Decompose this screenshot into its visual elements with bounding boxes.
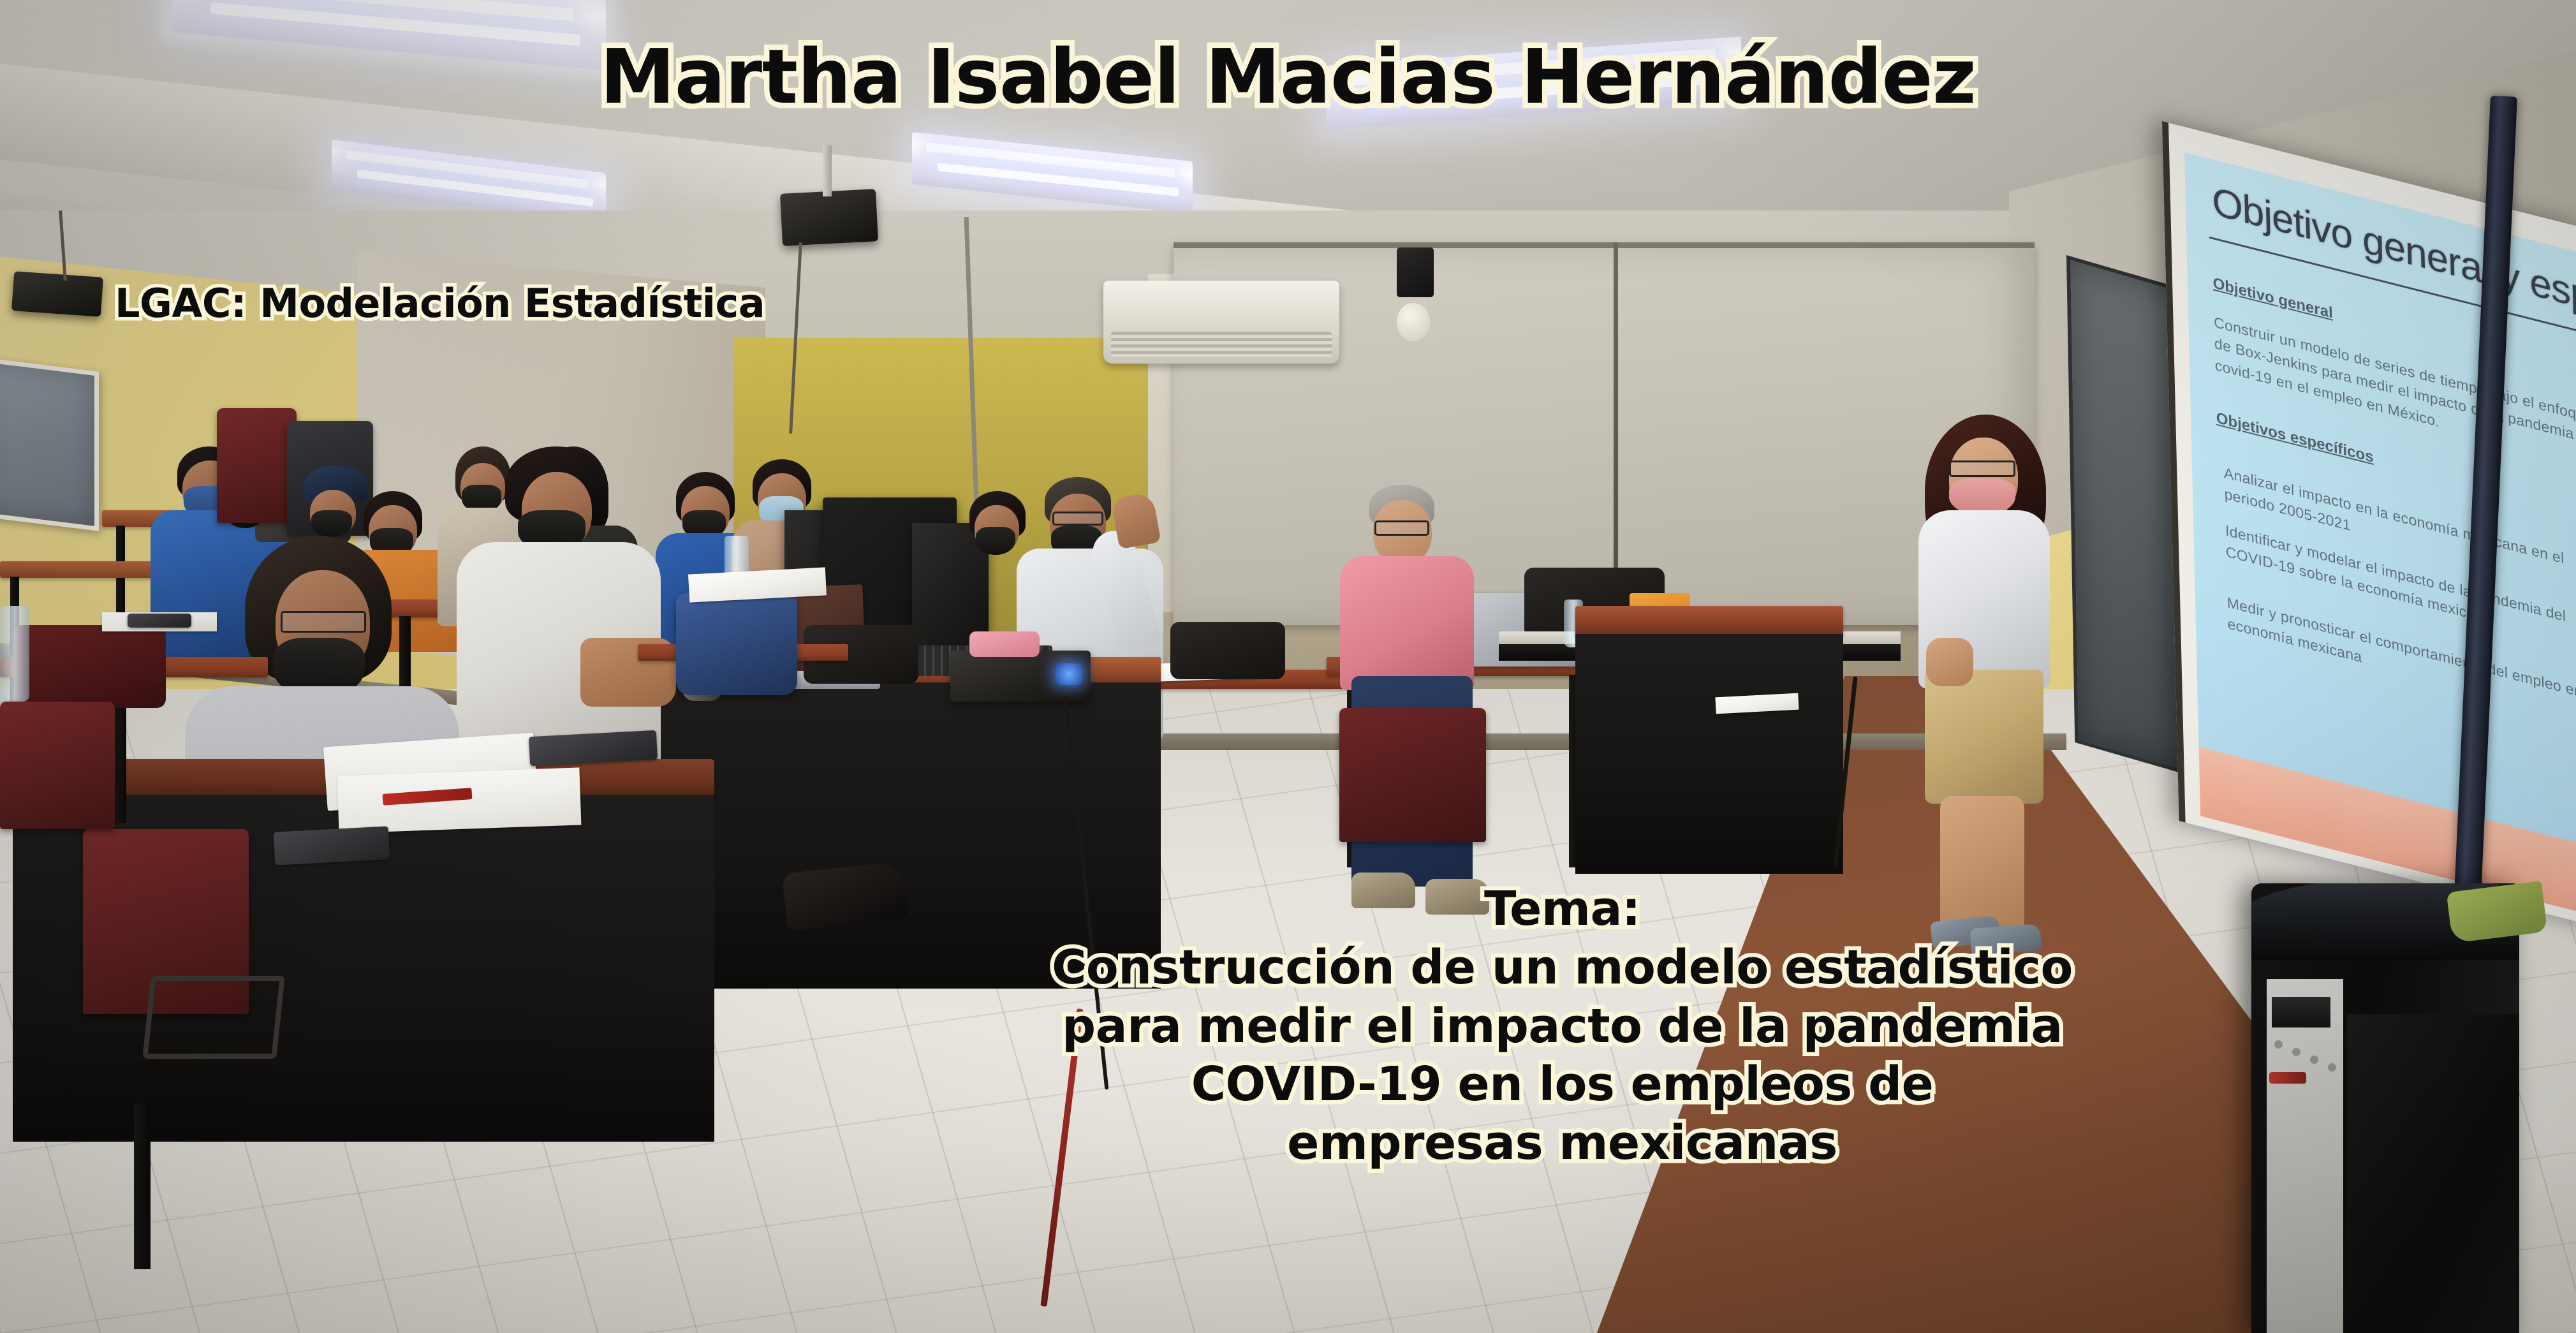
tema-line-1: Construcción de un modelo estadístico <box>880 939 2244 998</box>
microwave-display <box>2272 997 2330 1027</box>
presenter-woman <box>1888 415 2098 950</box>
page-title: Martha Isabel Macias Hernández <box>0 33 2576 121</box>
cloth-pink <box>969 631 1040 657</box>
ceiling-projector-mount <box>823 145 832 196</box>
face-mask <box>976 527 1015 555</box>
desk-top <box>0 561 159 578</box>
raised-hand <box>1111 492 1161 549</box>
tema-block: Tema: Construcción de un modelo estadíst… <box>880 880 2244 1173</box>
microwave-button[interactable] <box>2328 1063 2336 1072</box>
water-bottle-left <box>0 606 29 702</box>
committee-pink-shirt <box>1330 485 1508 918</box>
glasses <box>1374 520 1429 536</box>
microwave-button[interactable] <box>2274 1040 2283 1049</box>
chalkboard-left <box>0 357 99 531</box>
tema-line-4: empresas mexicanas <box>880 1114 2244 1173</box>
classroom-photo-scene: Objetivo general y específicos Objetivo … <box>0 0 2576 1333</box>
face-mask <box>311 510 352 537</box>
microwave-control-panel <box>2267 979 2343 1333</box>
papers-foreground <box>337 767 582 833</box>
bag-red-left <box>13 625 166 708</box>
microwave-door[interactable] <box>2347 1014 2519 1333</box>
wall-projector <box>11 271 103 317</box>
tema-label: Tema: <box>880 880 2244 939</box>
ceiling-projector <box>780 189 878 246</box>
podium-body <box>1575 634 1843 874</box>
phone-left-desk <box>128 614 191 628</box>
glasses <box>281 611 366 633</box>
wall-speaker <box>1397 247 1434 297</box>
podium-top <box>1575 606 1843 637</box>
lgac-label: LGAC: Modelación Estadística <box>115 281 765 327</box>
backpack-black-committee <box>1170 622 1285 679</box>
microwave-button[interactable] <box>2310 1056 2318 1064</box>
wall-light-globe <box>1397 303 1430 341</box>
backpack-blue <box>676 593 797 695</box>
air-conditioner-vent <box>1111 332 1332 357</box>
student-front-white <box>446 446 676 778</box>
microwave-handle[interactable] <box>2269 1072 2306 1084</box>
podium-lectern <box>1575 606 1843 874</box>
microwave-appliance <box>2251 883 2519 1333</box>
glasses <box>1052 512 1103 526</box>
chair-left-mid <box>0 702 115 829</box>
chair-committee-right <box>1339 708 1486 842</box>
chair-highback-1 <box>217 408 297 523</box>
phone-foreground <box>274 826 390 865</box>
projector-lens-glow <box>1056 663 1082 685</box>
desk-leg <box>134 1103 151 1269</box>
projection-screen: Objetivo general y específicos Objetivo … <box>2162 121 2576 927</box>
tema-line-3: COVID-19 en los empleos de <box>880 1056 2244 1114</box>
slide-section-specific: Objetivos específicos <box>2216 409 2373 467</box>
slide-content: Objetivo general y específicos Objetivo … <box>2184 152 2576 850</box>
skirt-tan <box>1925 670 2043 804</box>
microwave-button[interactable] <box>2292 1048 2300 1056</box>
air-conditioner <box>1103 281 1339 364</box>
student-behind-committee <box>957 491 1046 619</box>
glasses <box>1949 460 2015 477</box>
wire-basket <box>142 976 285 1059</box>
slide-general-text: Construir un modelo de series de tiempo … <box>2214 312 2576 473</box>
hands-clasped <box>1926 638 1973 686</box>
tema-line-2: para medir el impacto de la pandemia <box>880 998 2244 1056</box>
torso <box>1340 556 1474 690</box>
